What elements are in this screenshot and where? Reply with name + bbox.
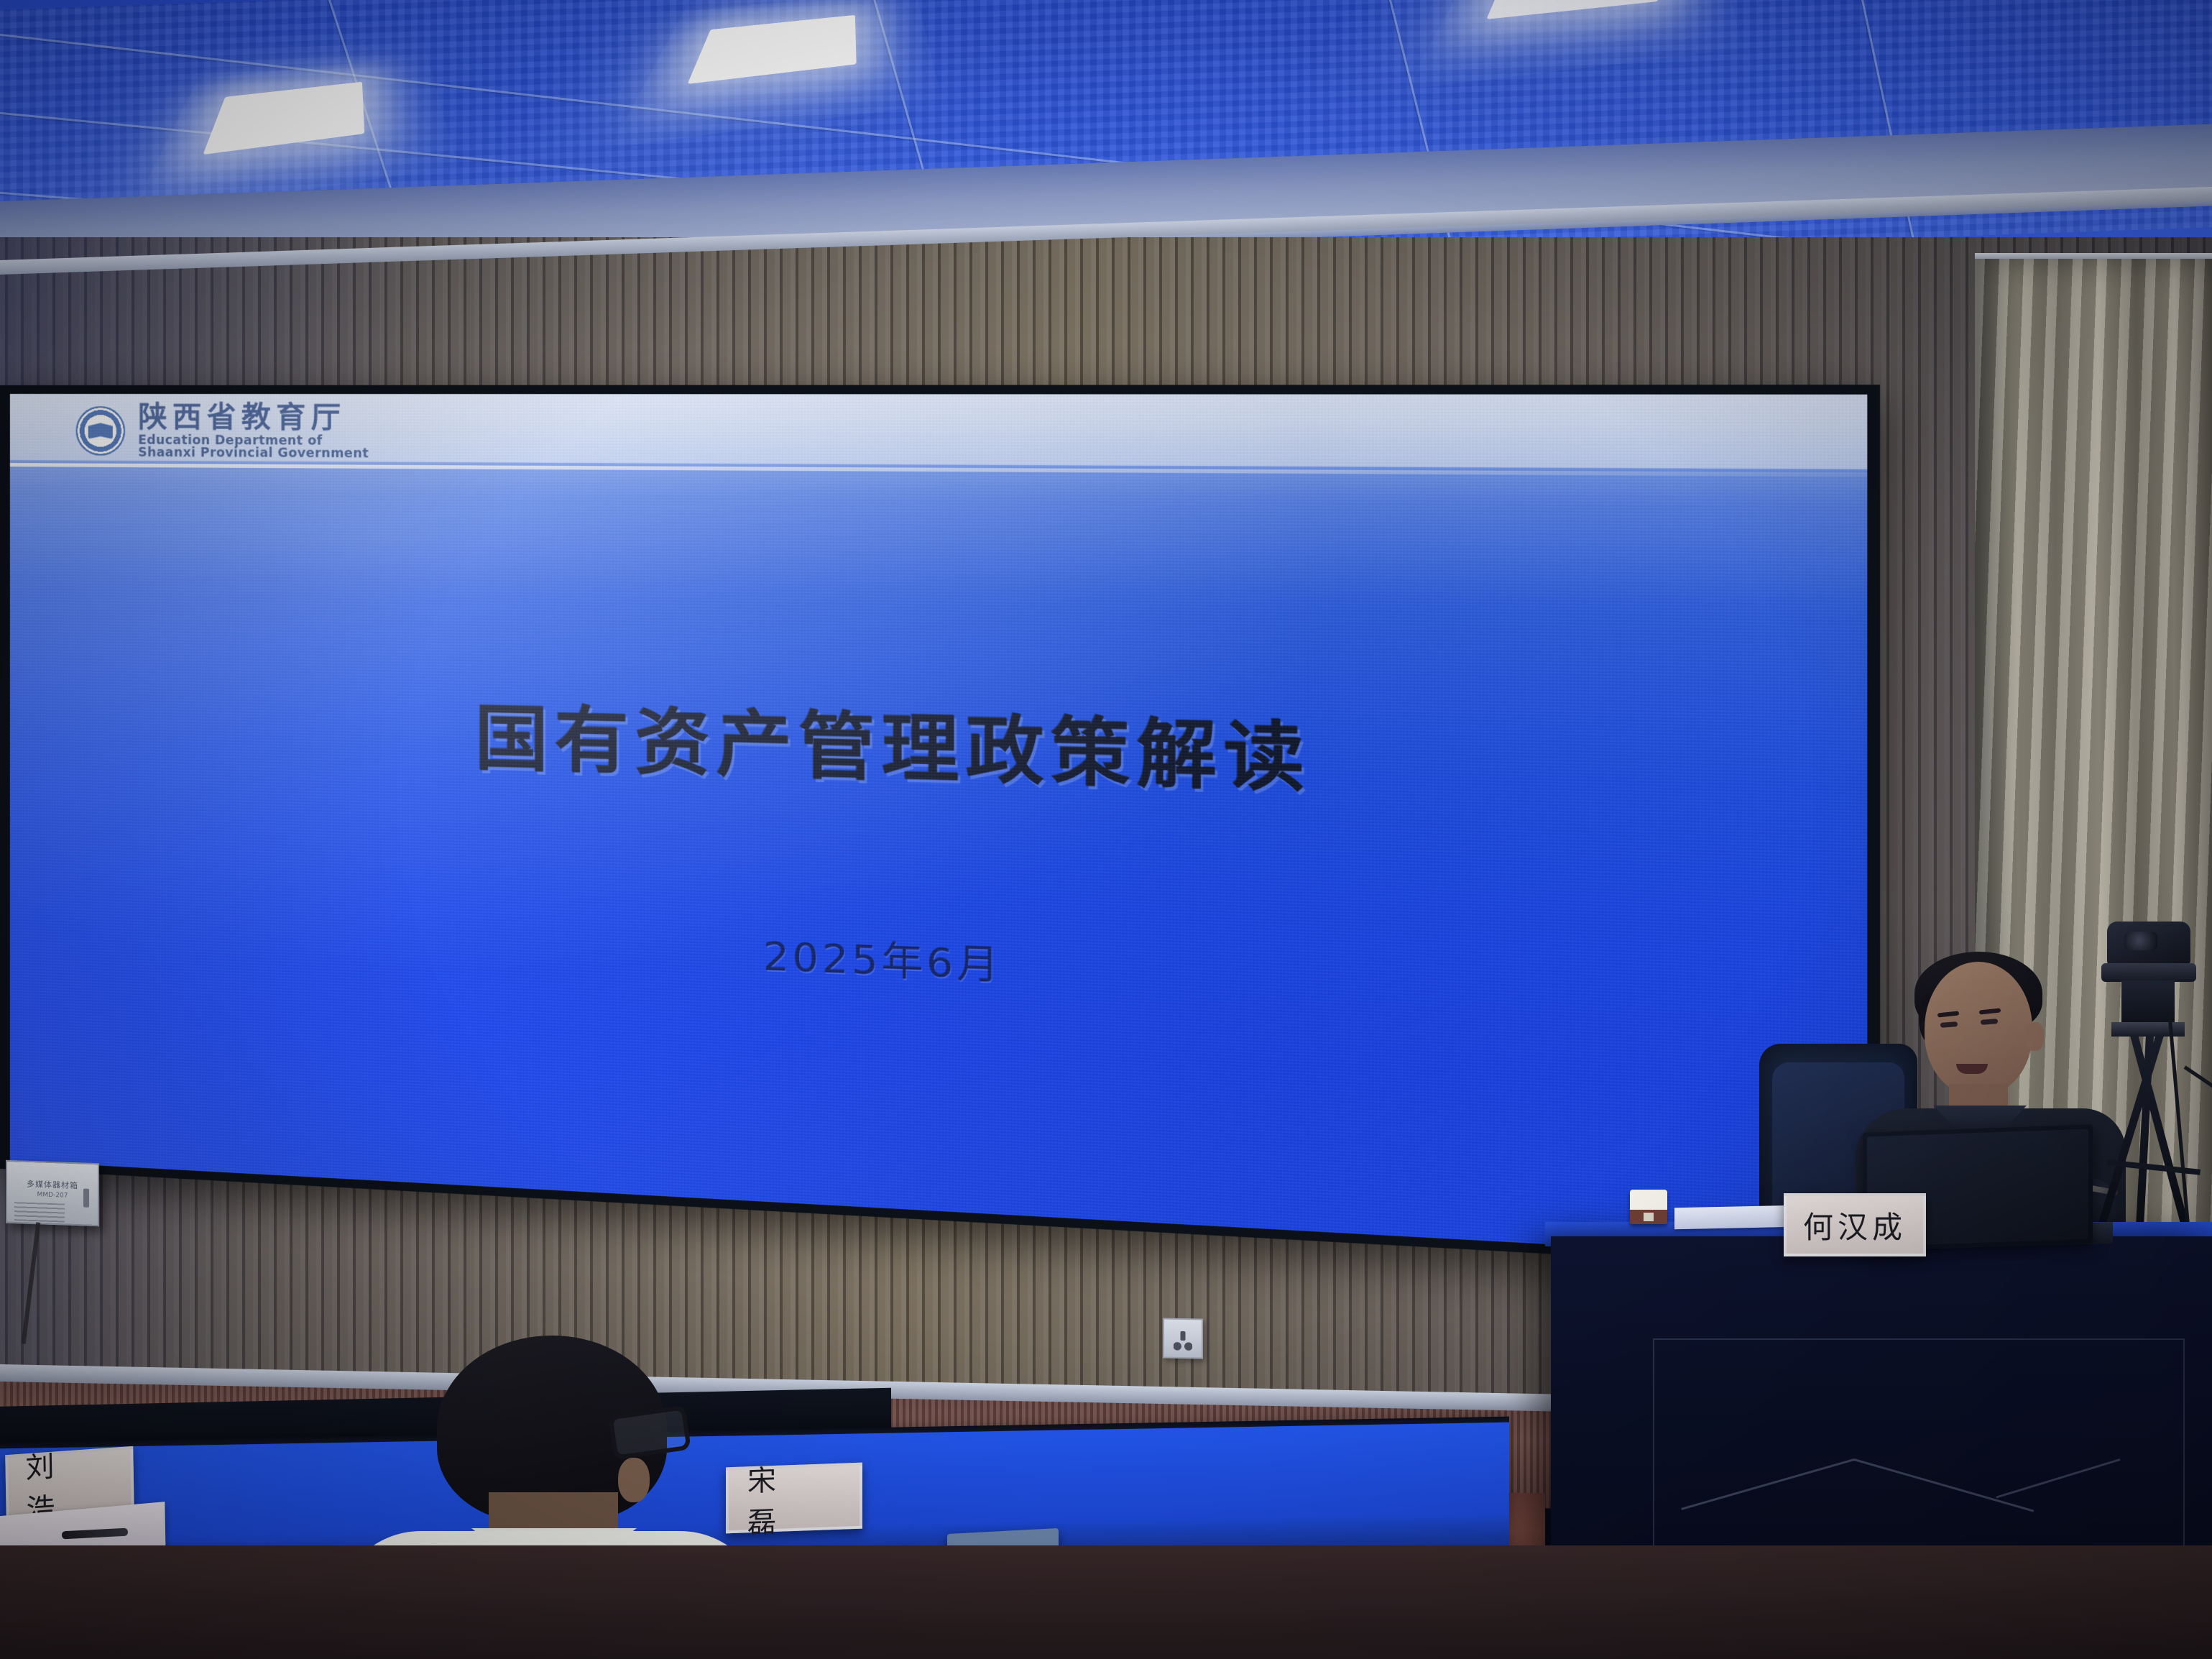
- nameplate-table-right: 宋 磊: [726, 1463, 862, 1534]
- presenter-ear: [2025, 1022, 2044, 1051]
- organization-text: 陕西省教育厅 Education Department of Shaanxi P…: [138, 403, 369, 461]
- presenter-head: [1925, 962, 2032, 1095]
- nameplate-podium-text: 何汉成: [1803, 1203, 1907, 1247]
- nameplate-right-text: 宋 磊: [729, 1454, 860, 1542]
- control-box-text-lines: [14, 1202, 65, 1222]
- screen-glare: [10, 394, 1867, 1262]
- conference-room-scene: 陕西省教育厅 Education Department of Shaanxi P…: [0, 0, 2212, 1659]
- education-department-emblem-icon: [76, 406, 125, 456]
- paper-cup: [1630, 1190, 1667, 1224]
- tripod-camera: [2077, 922, 2212, 1259]
- organization-branding: 陕西省教育厅 Education Department of Shaanxi P…: [76, 403, 369, 461]
- ptz-camera-icon: [2107, 922, 2190, 966]
- camera-cable: [2184, 1065, 2212, 1144]
- control-box-label-line2: MMD-207: [37, 1191, 68, 1199]
- wall-control-box[interactable]: 多媒体器材箱 MMD-207: [6, 1160, 99, 1227]
- nameplate-podium: 何汉成: [1784, 1193, 1926, 1256]
- slide-date: 2025年6月: [10, 897, 1867, 1024]
- led-scanline-overlay: [10, 394, 1867, 1262]
- organization-name-cn: 陕西省教育厅: [138, 403, 369, 433]
- tripod-leg: [2091, 1034, 2164, 1249]
- organization-name-en: Education Department of Shaanxi Provinci…: [138, 434, 369, 461]
- camera-neck: [2121, 980, 2175, 1025]
- foreground-shadow: [0, 1545, 2212, 1659]
- led-display-screen[interactable]: 陕西省教育厅 Education Department of Shaanxi P…: [0, 385, 1880, 1272]
- eyeglasses-icon: [608, 1405, 691, 1460]
- slide-title: 国有资产管理政策解读: [10, 671, 1867, 820]
- camera-base: [2101, 963, 2196, 982]
- organization-name-en-line2: Shaanxi Provincial Government: [138, 447, 369, 461]
- power-outlet-icon: [1163, 1318, 1203, 1359]
- control-box-handle[interactable]: [83, 1189, 89, 1208]
- control-box-label-line1: 多媒体器材箱: [27, 1178, 78, 1192]
- presentation-slide[interactable]: 陕西省教育厅 Education Department of Shaanxi P…: [10, 394, 1867, 1262]
- attendee-ear: [618, 1458, 650, 1502]
- podium-chevron-detail: [1991, 1405, 2206, 1492]
